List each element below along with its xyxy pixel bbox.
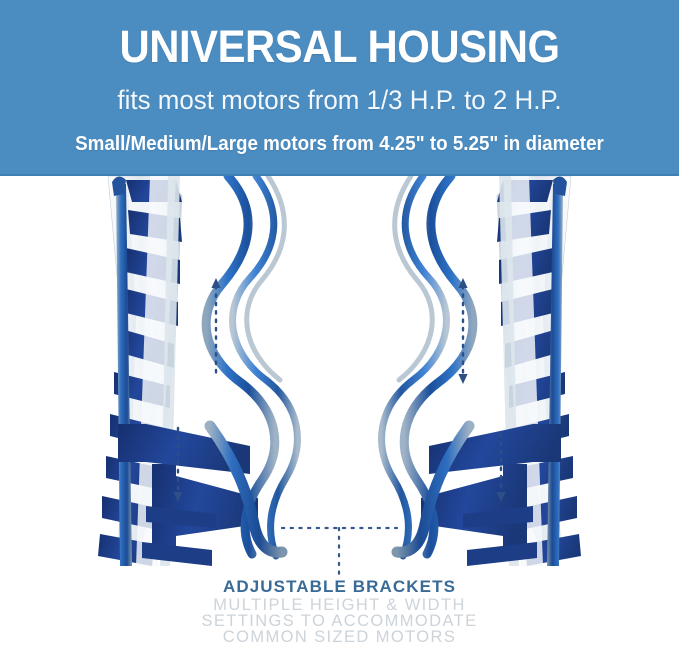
product-infographic: UNIVERSAL HOUSING fits most motors from … bbox=[0, 0, 679, 645]
right-front-post-tip bbox=[553, 176, 567, 196]
left-front-post-tip bbox=[112, 176, 126, 196]
caption-title: ADJUSTABLE BRACKETS bbox=[0, 576, 679, 597]
caption-line-1: MULTIPLE HEIGHT & WIDTH bbox=[0, 597, 679, 613]
left-bracket-assembly bbox=[98, 176, 297, 566]
product-photo bbox=[0, 176, 679, 576]
header-tagline: Small/Medium/Large motors from 4.25" to … bbox=[20, 132, 658, 156]
header-subtitle: fits most motors from 1/3 H.P. to 2 H.P. bbox=[14, 84, 666, 116]
page-title: UNIVERSAL HOUSING bbox=[24, 22, 655, 72]
caption-line-3: COMMON SIZED MOTORS bbox=[0, 629, 679, 645]
housing-illustration bbox=[0, 176, 679, 576]
header-banner: UNIVERSAL HOUSING fits most motors from … bbox=[0, 0, 679, 176]
caption-block: ADJUSTABLE BRACKETS MULTIPLE HEIGHT & WI… bbox=[0, 576, 679, 645]
right-bracket-assembly bbox=[382, 176, 581, 566]
caption-line-2: SETTINGS TO ACCOMMODATE bbox=[0, 613, 679, 629]
